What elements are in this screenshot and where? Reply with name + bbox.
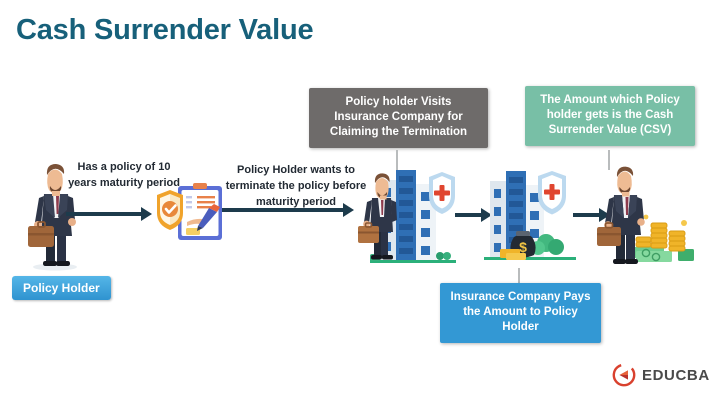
illustration-company-pays-amount: $ (484, 165, 576, 265)
connector-teal-callout (608, 150, 610, 170)
illustration-insurance-company-visit (356, 162, 456, 270)
educba-logo-text: EDUCBA (642, 367, 710, 384)
callout-company-pays-amount: Insurance Company Pays the Amount to Pol… (440, 283, 601, 343)
arrow-step-2-to-3 (222, 203, 354, 217)
callout-cash-surrender-value: The Amount which Policy holder gets is t… (525, 86, 695, 146)
svg-text:$: $ (519, 239, 527, 255)
callout-visit-insurance-company: Policy holder Visits Insurance Company f… (309, 88, 488, 148)
arrow-step-1-to-2 (66, 207, 152, 221)
page-title: Cash Surrender Value (16, 14, 313, 47)
illustration-policy-holder-receives-csv (596, 163, 700, 269)
educba-circle-e-icon (612, 363, 636, 387)
policy-holder-badge: Policy Holder (12, 276, 111, 300)
educba-logo: EDUCBA (612, 363, 710, 387)
illustration-policy-document (157, 182, 225, 244)
infographic-canvas: Cash Surrender Value (0, 0, 720, 404)
connector-blue-callout (518, 268, 520, 284)
